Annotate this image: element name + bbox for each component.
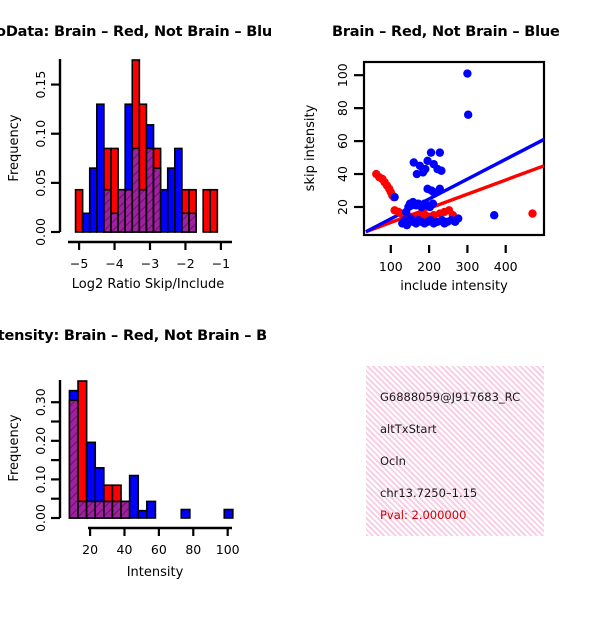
scatter-point — [436, 148, 444, 156]
histogram-bar — [224, 510, 233, 518]
histogram-bar — [210, 190, 217, 232]
intensity-histogram-title: ne Itensity: Brain – Red, Not Brain – B — [0, 328, 267, 344]
y-tick-label: 20 — [335, 199, 350, 215]
intensity-histogram-plot: 204060801000.000.100.200.30 Intensity Fr… — [0, 348, 300, 628]
scatter-point — [419, 168, 427, 176]
x-tick-label: 100 — [216, 542, 240, 557]
histogram-bar — [83, 213, 90, 232]
y-tick-label: 40 — [335, 166, 350, 182]
scatter-xlabel: include intensity — [400, 279, 508, 294]
intensity-histogram-xlabel: Intensity — [127, 565, 184, 580]
histogram-bar-overlap — [146, 148, 153, 232]
y-tick-label: 100 — [335, 63, 350, 87]
scatter-point — [436, 185, 444, 193]
x-tick-label: −3 — [141, 256, 159, 271]
scatter-point — [454, 214, 462, 222]
x-tick-label: 300 — [455, 259, 479, 274]
scatter-point — [403, 221, 411, 229]
annotation-gene-symbol: Ocln — [380, 454, 406, 468]
x-tick-label: −5 — [70, 256, 88, 271]
histogram-bar-overlap — [125, 190, 132, 232]
histogram-bar — [161, 190, 168, 232]
histogram-bar — [76, 190, 83, 232]
annotation-probe-id: G6888059@J917683_RC — [380, 390, 520, 404]
x-tick-label: 60 — [151, 542, 167, 557]
histogram-bar-overlap — [121, 501, 130, 518]
scatter-plot: 10020030040020406080100 include intensit… — [300, 20, 600, 310]
panel-ratio-histogram: RatioData: Brain – Red, Not Brain – Blu … — [0, 0, 300, 310]
histogram-bar-overlap — [132, 148, 139, 232]
y-tick-label: 0.20 — [33, 427, 48, 455]
histogram-bar-overlap — [139, 190, 146, 232]
y-tick-label: 0.05 — [33, 169, 48, 197]
histogram-bar — [181, 510, 190, 518]
x-tick-label: 400 — [494, 259, 518, 274]
annotation-box: G6888059@J917683_RC altTxStart Ocln chr1… — [366, 366, 544, 536]
x-tick-label: 20 — [82, 542, 98, 557]
histogram-bar-overlap — [104, 190, 111, 232]
scatter-point — [490, 211, 498, 219]
x-tick-label: −1 — [212, 256, 230, 271]
histogram-bar-overlap — [189, 213, 196, 232]
histogram-bar-overlap — [118, 190, 125, 232]
scatter-ylabel: skip intensity — [303, 104, 318, 191]
panel-info: G6888059@J917683_RC altTxStart Ocln chr1… — [300, 310, 600, 600]
ratio-histogram-xlabel: Log2 Ratio Skip/Include — [72, 277, 224, 292]
x-tick-label: −2 — [176, 256, 194, 271]
intensity-histogram-ylabel: Frequency — [7, 414, 22, 481]
histogram-bar-overlap — [95, 501, 104, 518]
histogram-bar-overlap — [69, 400, 78, 518]
scatter-point — [464, 111, 472, 119]
y-tick-label: 60 — [335, 133, 350, 149]
scatter-point — [429, 199, 437, 207]
ratio-histogram-plot: −5−4−3−2−10.000.050.100.15 Log2 Ratio Sk… — [0, 20, 300, 310]
x-tick-label: 80 — [185, 542, 201, 557]
y-tick-label: 0.00 — [33, 218, 48, 246]
scatter-point — [528, 209, 536, 217]
y-tick-label: 0.10 — [33, 120, 48, 148]
figure-canvas: RatioData: Brain – Red, Not Brain – Blu … — [0, 0, 600, 600]
histogram-bar-overlap — [111, 213, 118, 232]
histogram-bar — [78, 381, 87, 518]
panel-scatter: Brain – Red, Not Brain – Blue 1002003004… — [300, 0, 600, 310]
histogram-bar-overlap — [182, 213, 189, 232]
scatter-point — [390, 193, 398, 201]
histogram-bar-overlap — [154, 168, 161, 232]
histogram-bar-overlap — [104, 501, 113, 518]
scatter-point — [427, 148, 435, 156]
x-tick-label: 40 — [117, 542, 133, 557]
histogram-bar — [130, 476, 139, 518]
histogram-bar — [97, 104, 104, 232]
histogram-bar — [138, 511, 147, 518]
histogram-bar — [175, 148, 182, 232]
y-tick-label: 0.10 — [33, 465, 48, 493]
x-tick-label: −4 — [105, 256, 123, 271]
x-tick-label: 200 — [417, 259, 441, 274]
y-tick-label: 0.15 — [33, 71, 48, 99]
histogram-bar — [168, 168, 175, 232]
y-tick-label: 0.30 — [33, 388, 48, 416]
histogram-bar — [147, 501, 156, 518]
panel-intensity-histogram: ne Itensity: Brain – Red, Not Brain – B … — [0, 310, 300, 600]
x-tick-label: 100 — [379, 259, 403, 274]
annotation-event-type: altTxStart — [380, 422, 437, 436]
annotation-locus: chr13.7250–1.15 — [380, 486, 477, 500]
annotation-pvalue: Pval: 2.000000 — [380, 508, 466, 522]
ratio-histogram-ylabel: Frequency — [7, 114, 22, 181]
scatter-point — [437, 167, 445, 175]
histogram-bar-overlap — [87, 501, 96, 518]
scatter-point — [463, 69, 471, 77]
histogram-bar-overlap — [78, 501, 87, 518]
histogram-bar — [90, 168, 97, 232]
histogram-bar-overlap — [112, 501, 121, 518]
y-tick-label: 0.00 — [33, 504, 48, 532]
histogram-bar — [203, 190, 210, 232]
y-tick-label: 80 — [335, 100, 350, 116]
